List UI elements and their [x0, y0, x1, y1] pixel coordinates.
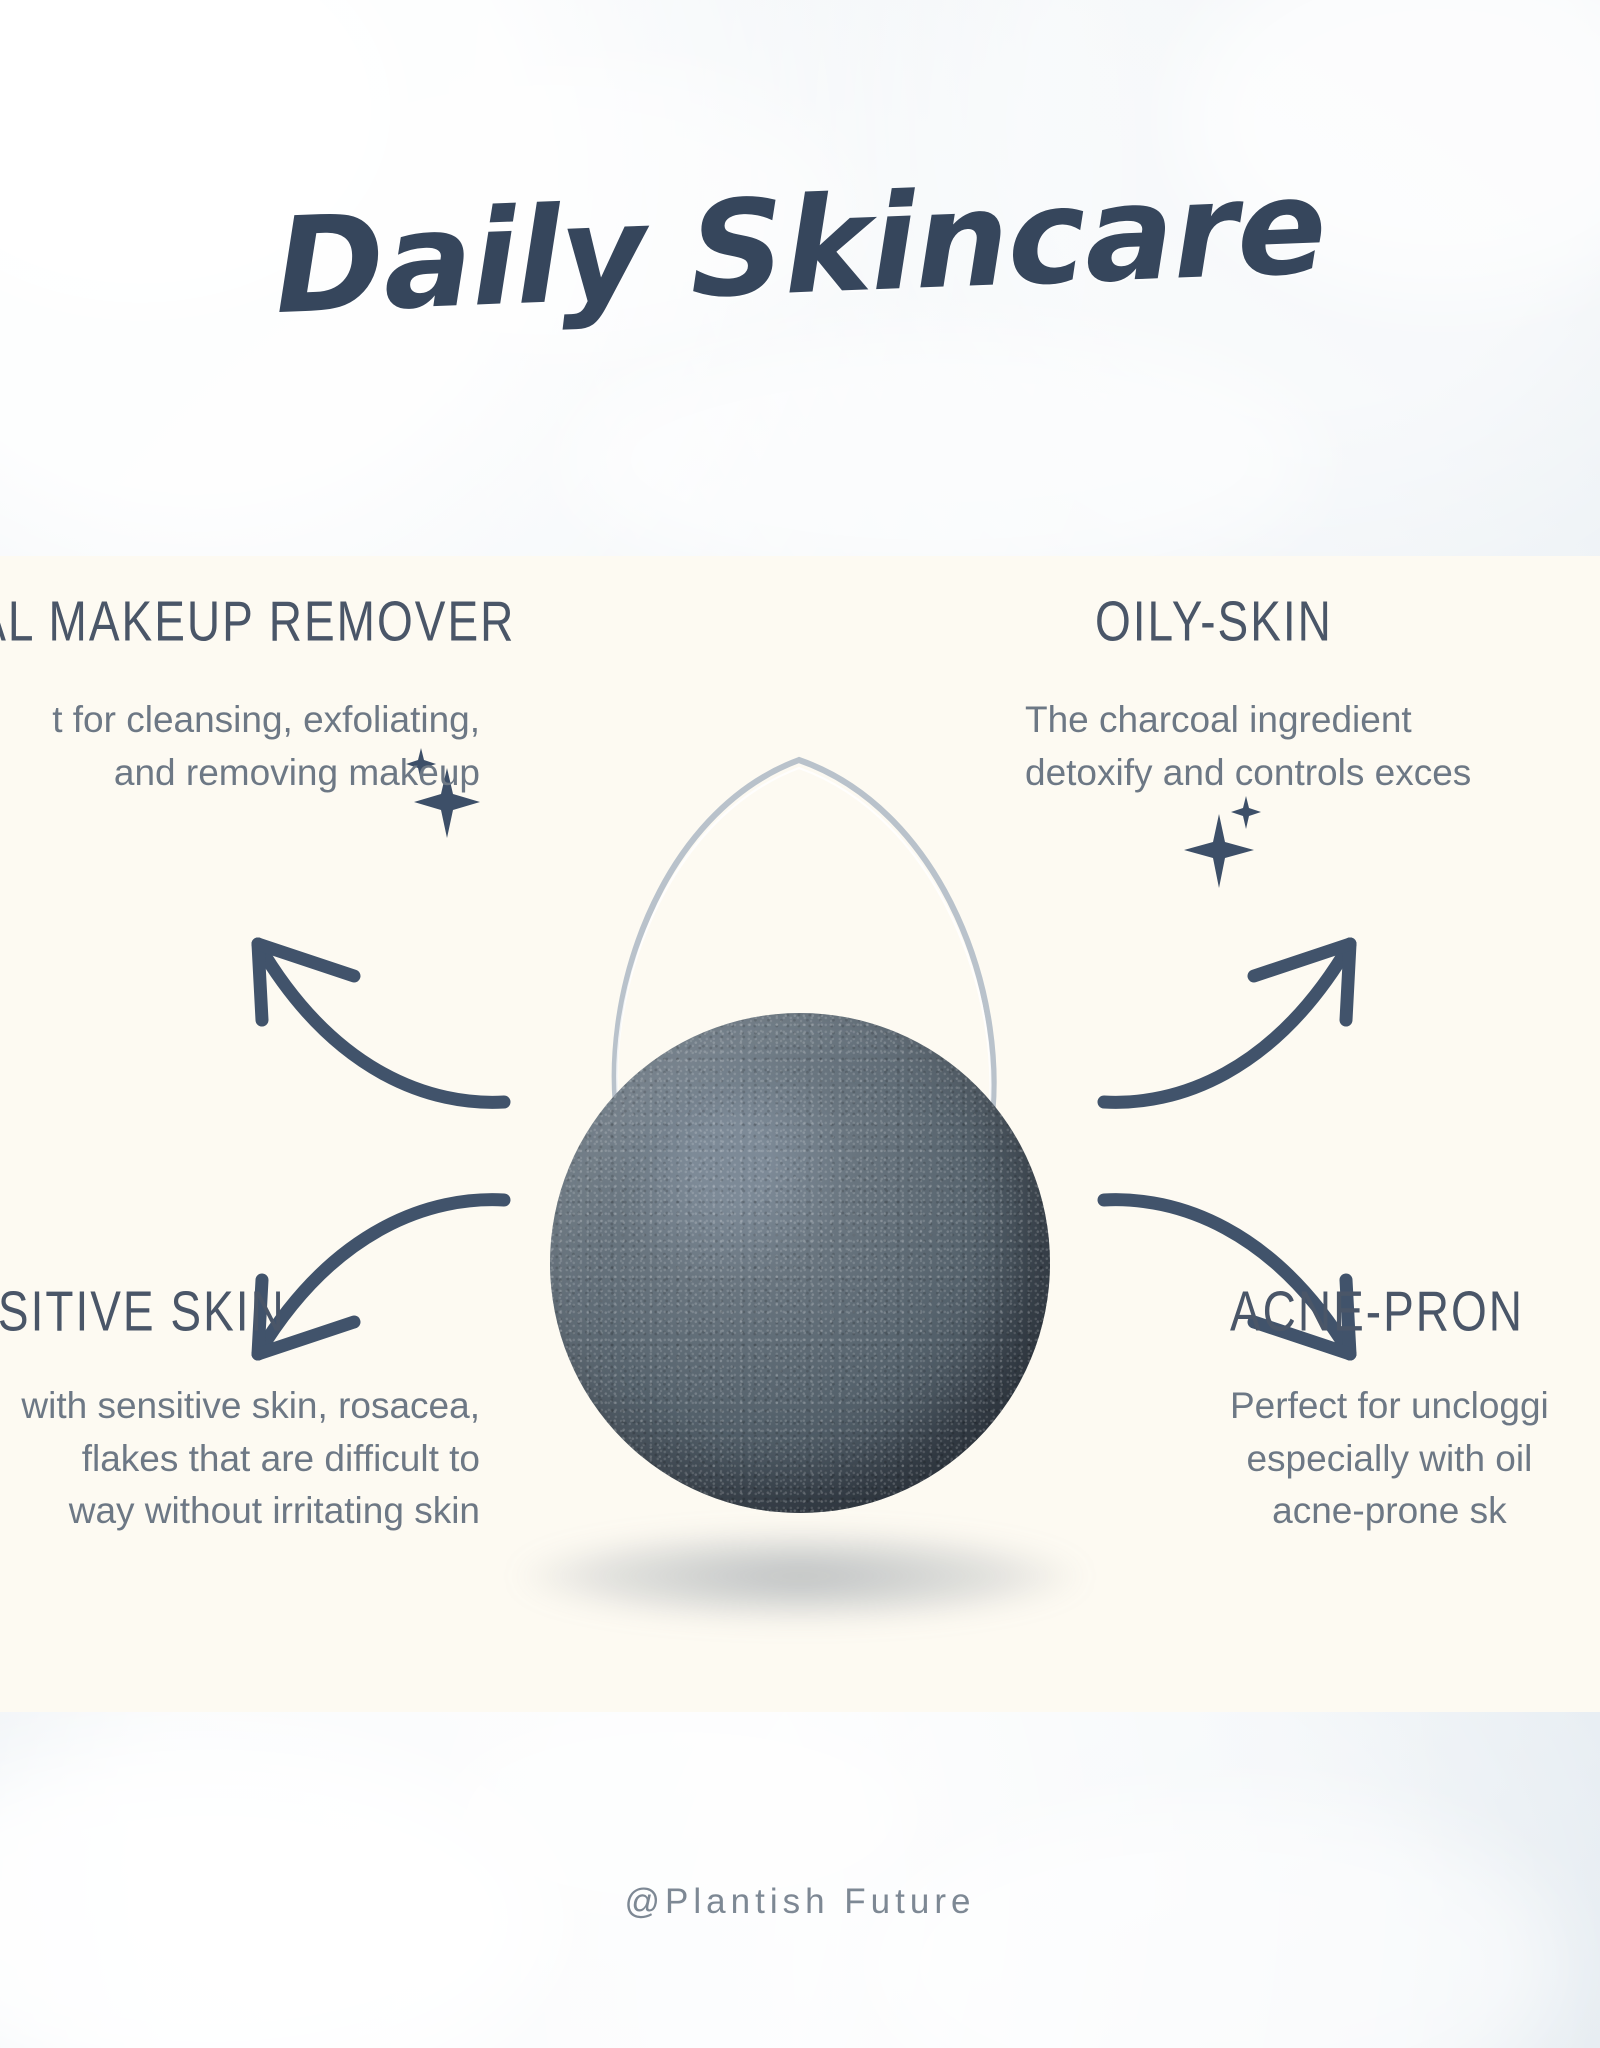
feature-line: t for cleansing, exfoliating, [0, 694, 480, 747]
feature-block-makeup-remover: RAL MAKEUP REMOVER t for cleansing, exfo… [0, 600, 515, 799]
feature-line: acne-prone sk [1230, 1485, 1549, 1538]
feature-heading: ENSITIVE SKIN [0, 1278, 480, 1344]
feature-block-oily-skin: OILY-SKIN The charcoal ingredient detoxi… [1025, 600, 1471, 799]
konjac-sponge [550, 1013, 1050, 1513]
feature-line: The charcoal ingredient [1025, 694, 1471, 747]
page-title: Daily Skincare [0, 139, 1600, 354]
product-image [447, 700, 1153, 1480]
poster-canvas: Daily Skincare [0, 0, 1600, 2048]
watercolor-blob [560, 330, 1320, 590]
feature-line: Perfect for uncloggi [1230, 1380, 1549, 1433]
feature-heading: ACNE-PRON [1230, 1278, 1549, 1344]
feature-line: flakes that are difficult to [0, 1433, 480, 1486]
feature-block-acne-prone: ACNE-PRON Perfect for uncloggi especiall… [1230, 1290, 1549, 1538]
feature-block-sensitive-skin: ENSITIVE SKIN with sensitive skin, rosac… [0, 1290, 480, 1538]
sponge-texture [550, 1013, 1050, 1513]
feature-line: detoxify and controls exces [1025, 747, 1471, 800]
feature-line: with sensitive skin, rosacea, [0, 1380, 480, 1433]
feature-line: and removing makeup [0, 747, 480, 800]
product-shadow [515, 1530, 1085, 1622]
feature-line: especially with oil [1230, 1433, 1549, 1486]
watercolor-blob [860, 1800, 1560, 2048]
feature-line: way without irritating skin [0, 1485, 480, 1538]
feature-heading: RAL MAKEUP REMOVER [0, 588, 515, 654]
brand-handle: @Plantish Future [0, 1882, 1600, 1922]
feature-heading: OILY-SKIN [1095, 588, 1471, 654]
